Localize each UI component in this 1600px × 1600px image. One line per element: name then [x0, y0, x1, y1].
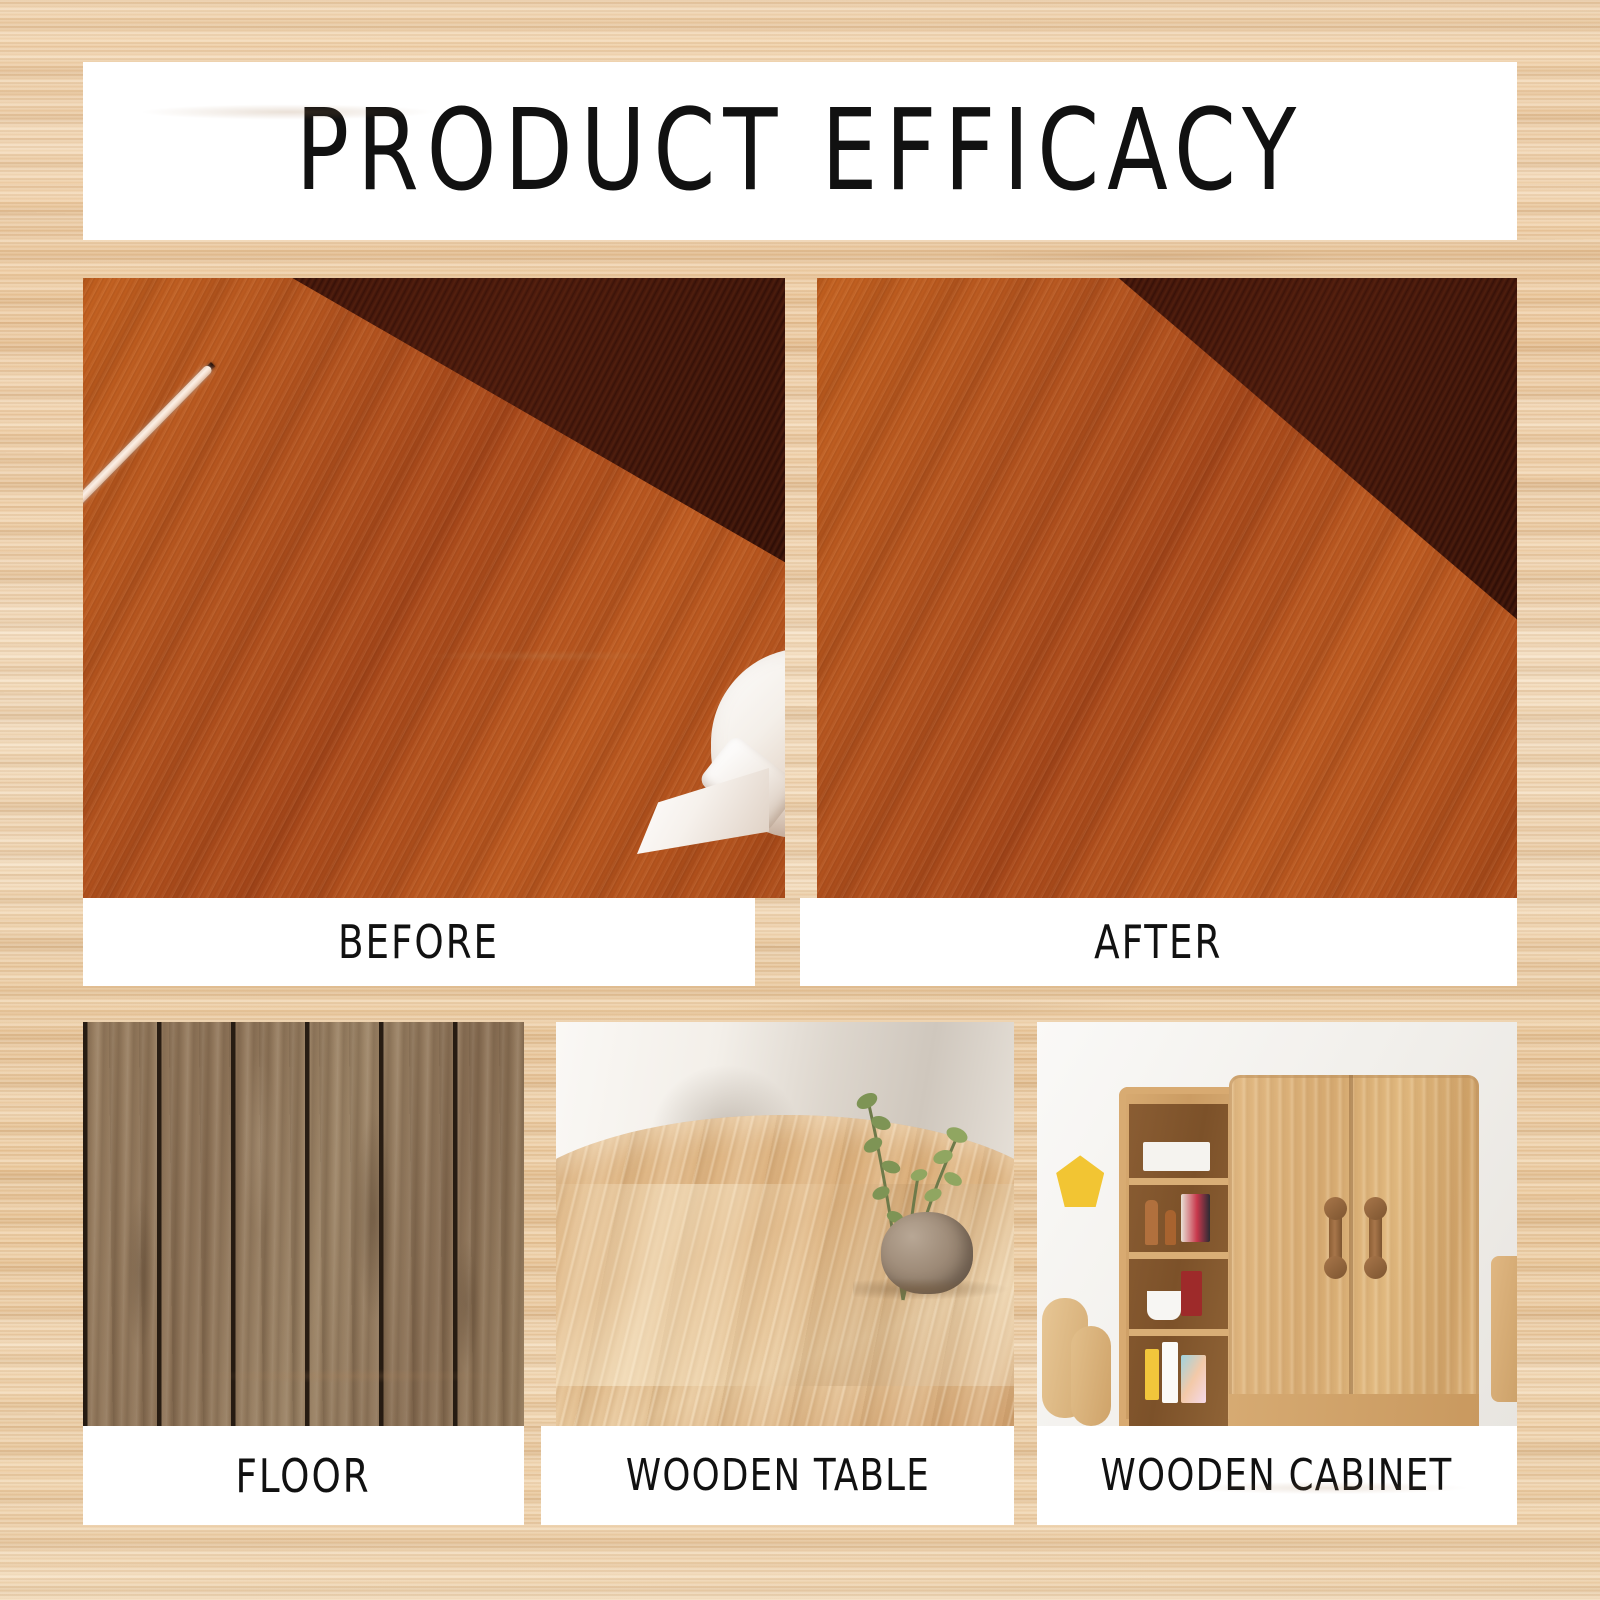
- cabinet-handle-right[interactable]: [1369, 1205, 1382, 1272]
- wooden-handle: [1071, 1326, 1111, 1426]
- ceramic-vase: [881, 1212, 973, 1294]
- yellow-folder: [1145, 1349, 1159, 1401]
- dark-plank-corner: [1107, 278, 1517, 628]
- title-bar: PRODUCT EFFICACY: [83, 62, 1517, 240]
- shelf-divider: [1129, 1252, 1227, 1259]
- glue-bead: [83, 364, 213, 870]
- shelf-divider: [1129, 1329, 1227, 1336]
- wooden-cabinet-label-bar: WOODEN CABINET: [1037, 1426, 1517, 1525]
- wooden-table-image: [556, 1022, 1014, 1426]
- shelf-divider: [1129, 1178, 1227, 1185]
- before-label-bar: BEFORE: [83, 898, 755, 986]
- picture-book: [1181, 1194, 1211, 1242]
- wooden-cabinet-image: [1037, 1022, 1517, 1426]
- before-image: [83, 278, 785, 898]
- wooden-cabinet-label: WOODEN CABINET: [1101, 1454, 1453, 1498]
- wooden-table-label: WOODEN TABLE: [625, 1454, 929, 1498]
- open-shelf-unit: [1119, 1087, 1239, 1426]
- wooden-figurine: [1145, 1200, 1158, 1245]
- white-box: [1162, 1342, 1178, 1403]
- cabinet-handle-left[interactable]: [1329, 1205, 1342, 1272]
- after-image: [817, 278, 1517, 898]
- after-label: AFTER: [1094, 919, 1222, 965]
- before-label: BEFORE: [338, 919, 499, 965]
- glue-bottle: [643, 676, 785, 876]
- floor-label-bar: FLOOR: [83, 1426, 524, 1525]
- dark-plank-corner: [275, 278, 785, 568]
- adjacent-furniture-edge: [1491, 1256, 1517, 1401]
- page-title: PRODUCT EFFICACY: [296, 95, 1304, 207]
- wooden-table-label-bar: WOODEN TABLE: [541, 1426, 1014, 1525]
- colorful-storage-box: [1181, 1355, 1207, 1403]
- cabinet-doors: [1229, 1075, 1479, 1426]
- floor-image: [83, 1022, 524, 1426]
- product-efficacy-infographic: PRODUCT EFFICACY BEFORE AFTER FLOOR: [0, 0, 1600, 1600]
- white-basket: [1147, 1291, 1180, 1320]
- shelf-interior: [1129, 1104, 1227, 1426]
- floor-label: FLOOR: [236, 1453, 371, 1499]
- cabinet-base: [1229, 1394, 1479, 1426]
- floor-seam: [83, 362, 215, 894]
- red-box: [1181, 1271, 1203, 1316]
- after-label-bar: AFTER: [800, 898, 1517, 986]
- wooden-figurine: [1165, 1210, 1176, 1245]
- door-gap: [1349, 1075, 1353, 1426]
- folded-linen: [1143, 1142, 1210, 1171]
